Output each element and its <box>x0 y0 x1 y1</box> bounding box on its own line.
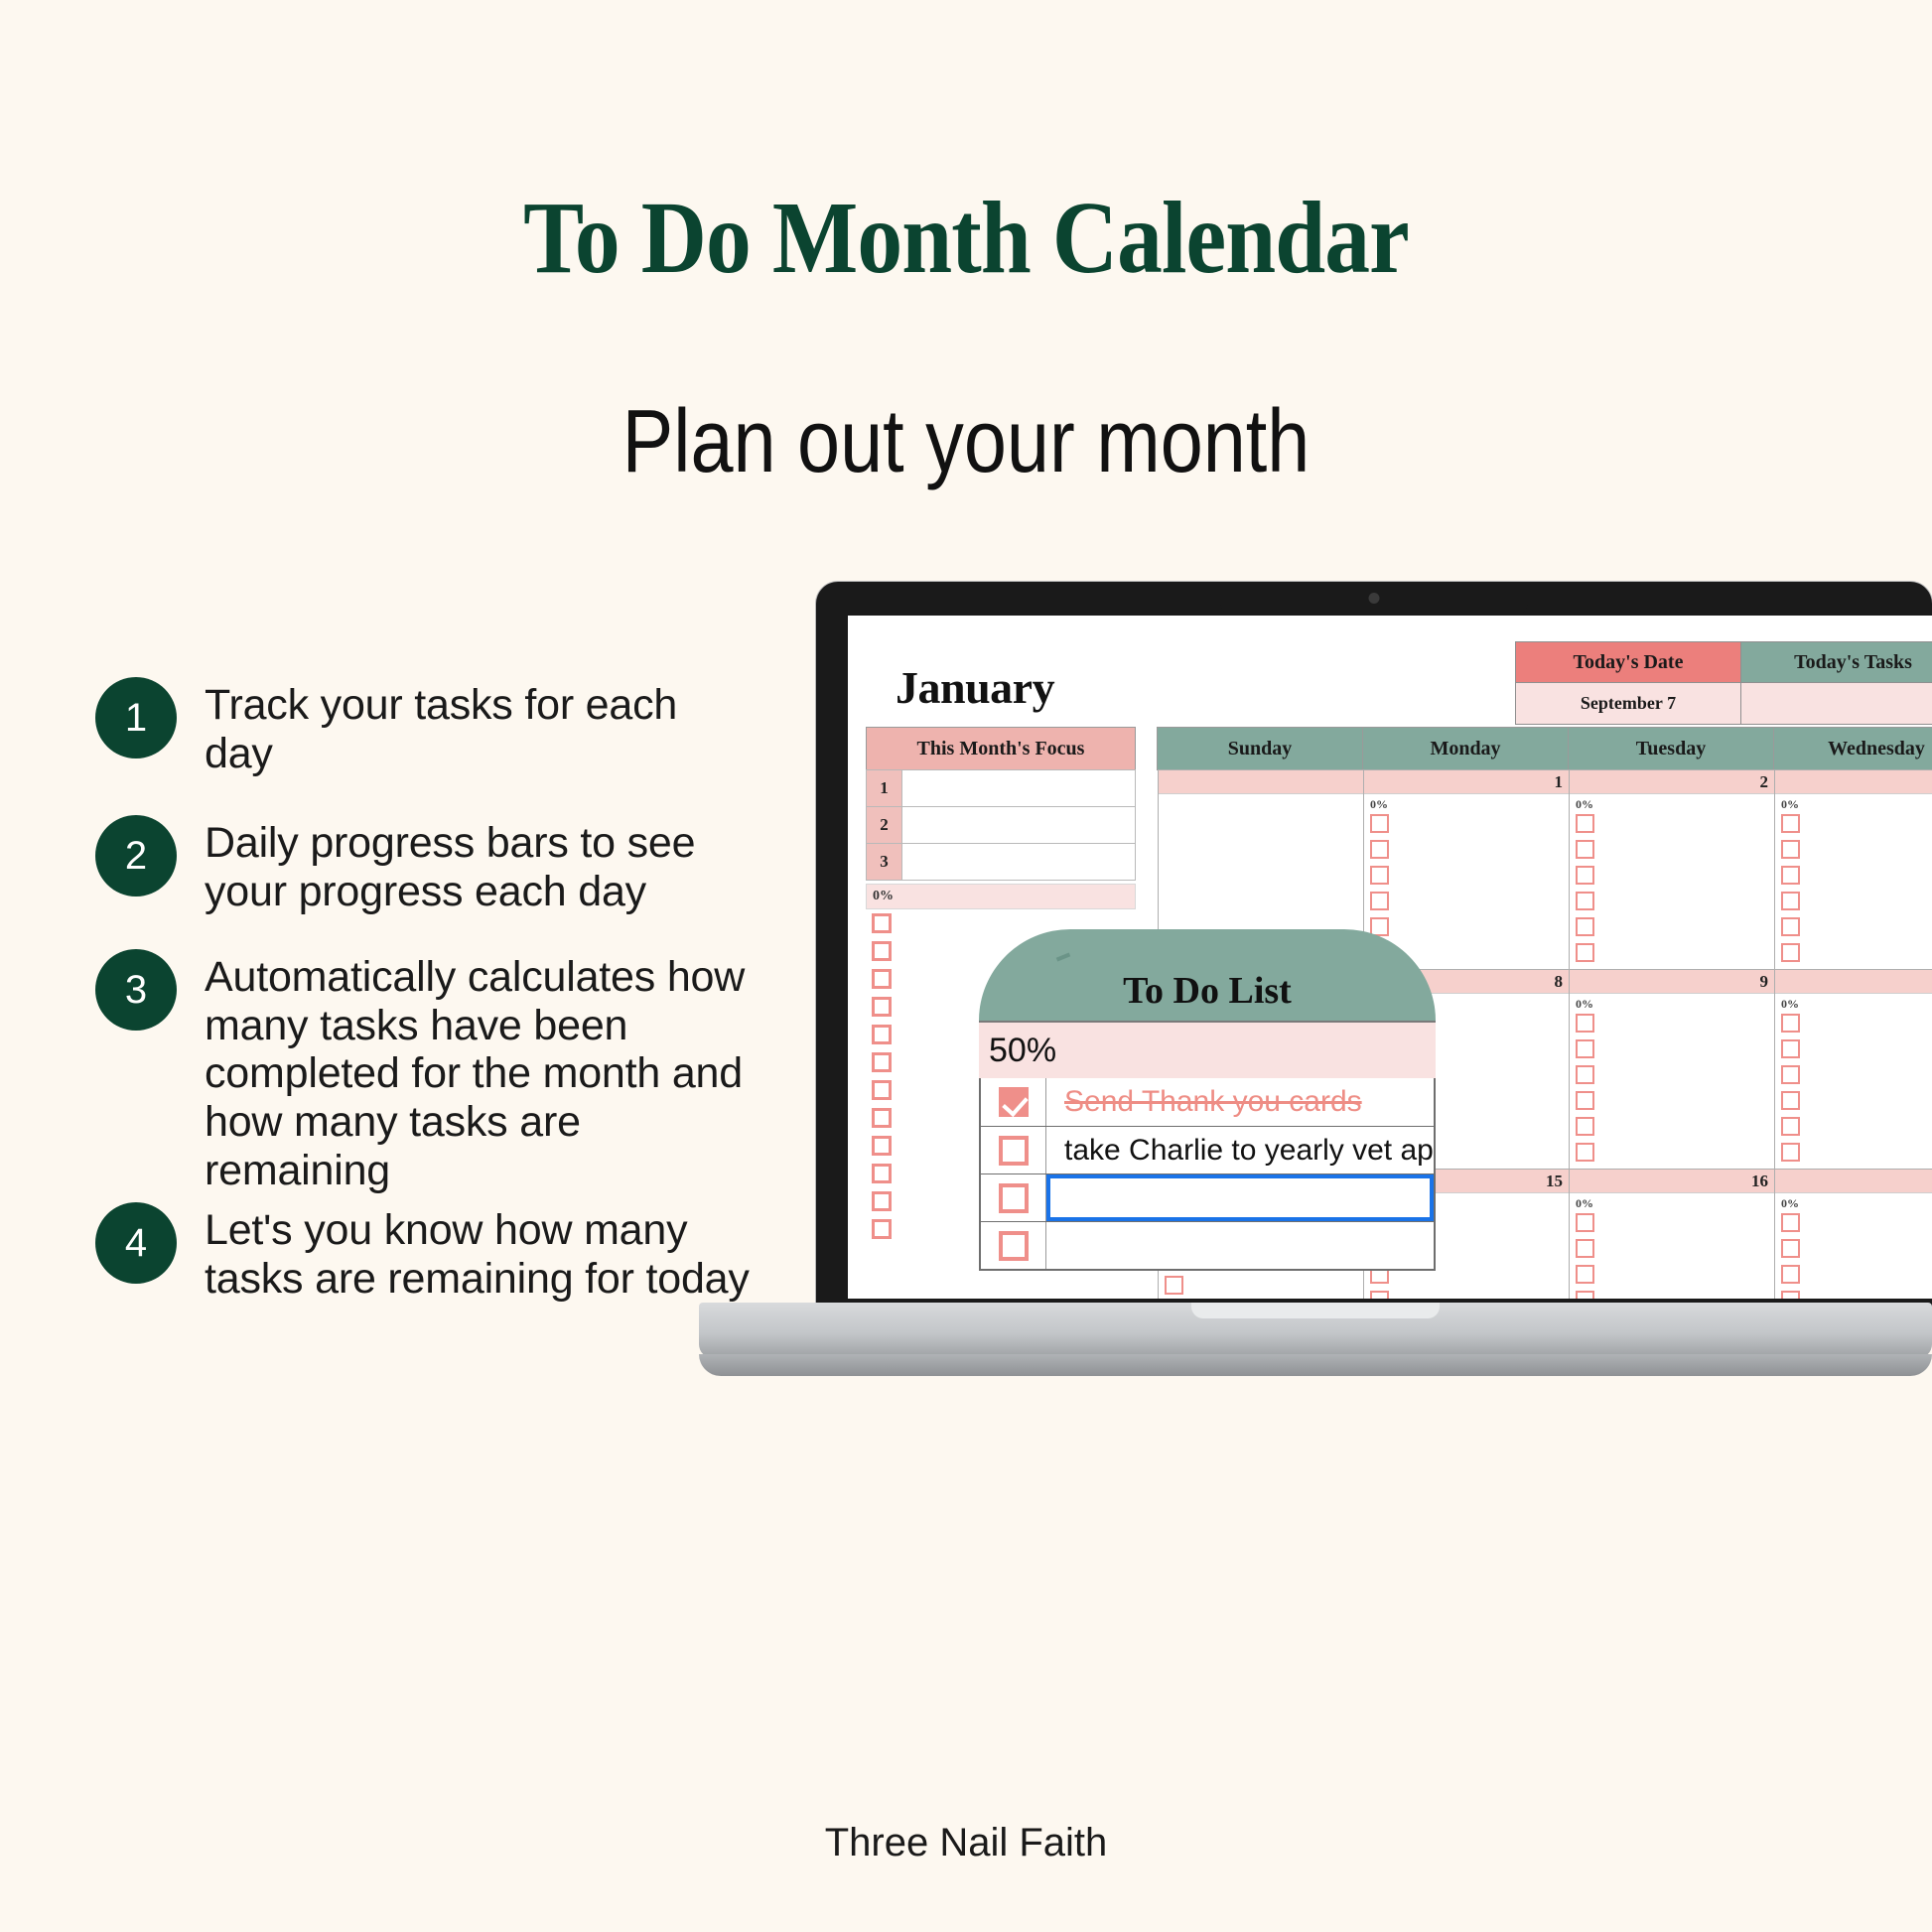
feature-item-4: 4 Let's you know how many tasks are rema… <box>95 1200 751 1303</box>
calendar-date-number: 16 <box>1570 1170 1774 1193</box>
webcam-icon <box>1369 593 1380 604</box>
checkbox-icon[interactable] <box>1576 866 1594 885</box>
todo-checkbox-cell[interactable] <box>981 1127 1046 1173</box>
checkbox-icon[interactable] <box>872 1025 892 1044</box>
feature-badge-3: 3 <box>95 949 177 1031</box>
checkbox-icon[interactable] <box>1370 866 1389 885</box>
feature-text-2: Daily progress bars to see your progress… <box>205 813 751 915</box>
checkbox-icon[interactable] <box>1576 1291 1594 1299</box>
focus-percent-label: 0% <box>866 884 1136 909</box>
day-header-sunday: Sunday <box>1157 727 1363 770</box>
focus-row-number: 1 <box>867 770 902 806</box>
calendar-date-number: 10 <box>1775 970 1932 994</box>
day-header-wednesday: Wednesday <box>1773 727 1932 770</box>
checkbox-icon[interactable] <box>1781 1213 1800 1232</box>
focus-row[interactable]: 1 <box>866 769 1136 807</box>
checkbox-icon[interactable] <box>1370 892 1389 910</box>
checkbox-icon[interactable] <box>1576 1143 1594 1162</box>
focus-row[interactable]: 3 <box>866 843 1136 881</box>
checkbox-icon[interactable] <box>1781 1291 1800 1299</box>
checkbox-icon[interactable] <box>1576 892 1594 910</box>
checkbox-icon[interactable] <box>1781 1014 1800 1033</box>
checkbox-icon[interactable] <box>872 1191 892 1211</box>
checkbox-icon[interactable] <box>1576 1039 1594 1058</box>
checkbox-checked-icon[interactable] <box>999 1087 1029 1117</box>
checkbox-icon[interactable] <box>1781 1117 1800 1136</box>
feature-item-3: 3 Automatically calculates how many task… <box>95 947 751 1194</box>
checkbox-icon[interactable] <box>872 913 892 933</box>
day-checkbox-list <box>1570 1014 1774 1162</box>
calendar-day-cell[interactable]: 100% <box>1774 969 1932 1170</box>
checkbox-icon[interactable] <box>1576 1239 1594 1258</box>
todo-checkbox-cell[interactable] <box>981 1174 1046 1221</box>
todo-item-label[interactable] <box>1046 1174 1434 1221</box>
checkbox-icon[interactable] <box>872 1108 892 1128</box>
laptop-notch <box>1220 582 1528 616</box>
feature-text-1: Track your tasks for each day <box>205 675 751 777</box>
todo-item-rows: Send Thank you cardstake Charlie to year… <box>979 1078 1436 1271</box>
grid-header-row: This Month's Focus Sunday Monday Tuesday… <box>866 727 1932 770</box>
spreadsheet: January Today's Date September 7 Today's… <box>848 616 1932 1299</box>
footer-brand: Three Nail Faith <box>0 1821 1932 1865</box>
feature-badge-1: 1 <box>95 677 177 759</box>
checkbox-icon[interactable] <box>872 1080 892 1100</box>
day-checkbox-list <box>1570 814 1774 962</box>
today-panel: Today's Date September 7 Today's Tasks <box>1515 641 1932 725</box>
todo-item-row[interactable]: Send Thank you cards <box>981 1078 1434 1126</box>
laptop-screen: January Today's Date September 7 Today's… <box>848 616 1932 1299</box>
todo-checkbox-cell[interactable] <box>981 1222 1046 1269</box>
checkbox-icon[interactable] <box>1781 866 1800 885</box>
checkbox-icon[interactable] <box>1781 892 1800 910</box>
todo-progress-bar: 50% <box>979 1021 1436 1078</box>
checkbox-icon[interactable] <box>1576 814 1594 833</box>
checkbox-icon[interactable] <box>1781 840 1800 859</box>
day-percent-label: 0% <box>1570 994 1774 1014</box>
todo-popup-header: To Do List <box>979 929 1436 1021</box>
focus-row-number: 3 <box>867 844 902 880</box>
page-title: To Do Month Calendar <box>116 187 1816 290</box>
checkbox-icon[interactable] <box>1781 1091 1800 1110</box>
calendar-date-number: 2 <box>1570 770 1774 794</box>
todo-checkbox-cell[interactable] <box>981 1078 1046 1126</box>
calendar-date-number: 1 <box>1364 770 1569 794</box>
laptop-base-foot <box>699 1354 1932 1376</box>
checkbox-icon[interactable] <box>1781 814 1800 833</box>
month-title: January <box>896 661 1054 714</box>
feature-item-2: 2 Daily progress bars to see your progre… <box>95 813 751 915</box>
checkbox-icon[interactable] <box>1576 1065 1594 1084</box>
feature-item-1: 1 Track your tasks for each day <box>95 675 751 777</box>
calendar-day-column: 30%100%170%240%310% <box>1774 770 1932 1299</box>
checkbox-icon[interactable] <box>872 941 892 961</box>
todo-progress-label: 50% <box>989 1032 1056 1070</box>
day-percent-label: 0% <box>1570 1193 1774 1213</box>
laptop-lid: January Today's Date September 7 Today's… <box>816 582 1932 1316</box>
checkbox-icon[interactable] <box>1781 1143 1800 1162</box>
todo-popup-title: To Do List <box>1123 969 1292 1013</box>
today-tasks-value[interactable] <box>1741 682 1932 724</box>
focus-column-header: This Month's Focus <box>866 727 1136 770</box>
checkbox-icon[interactable] <box>1370 1291 1389 1299</box>
day-checkbox-list <box>1775 1014 1932 1162</box>
day-percent-label: 0% <box>1570 794 1774 814</box>
day-percent-label: 0% <box>1775 794 1932 814</box>
checkbox-icon[interactable] <box>872 1164 892 1183</box>
checkbox-icon[interactable] <box>872 997 892 1017</box>
cursor-icon <box>1056 953 1070 962</box>
feature-badge-4: 4 <box>95 1202 177 1284</box>
todo-progress-track <box>1070 1034 1428 1067</box>
todo-item-label[interactable]: Send Thank you cards <box>1046 1085 1434 1119</box>
day-header-monday: Monday <box>1362 727 1569 770</box>
checkbox-icon[interactable] <box>999 1136 1029 1166</box>
day-header-tuesday: Tuesday <box>1568 727 1774 770</box>
feature-badge-2: 2 <box>95 815 177 897</box>
focus-rows: 1 2 3 <box>866 770 1136 881</box>
calendar-day-cell[interactable]: 20% <box>1569 769 1775 970</box>
feature-text-3: Automatically calculates how many tasks … <box>205 947 751 1194</box>
today-date-column: Today's Date September 7 <box>1516 642 1740 724</box>
checkbox-icon[interactable] <box>1781 943 1800 962</box>
todo-list-popup: To Do List 50% Send Thank you cardstake … <box>979 929 1436 1271</box>
todo-item-row[interactable] <box>981 1221 1434 1269</box>
checkbox-icon[interactable] <box>1576 840 1594 859</box>
todo-item-row[interactable] <box>981 1173 1434 1221</box>
checkbox-icon[interactable] <box>1781 1065 1800 1084</box>
today-date-value[interactable]: September 7 <box>1516 682 1740 724</box>
checkbox-icon[interactable] <box>1576 1014 1594 1033</box>
checkbox-icon[interactable] <box>999 1231 1029 1261</box>
checkbox-icon[interactable] <box>1576 917 1594 936</box>
day-checkbox-list <box>1775 1213 1932 1299</box>
focus-row-input[interactable] <box>902 844 1135 880</box>
focus-row-number: 2 <box>867 807 902 843</box>
calendar-day-cell[interactable]: 170% <box>1774 1169 1932 1299</box>
calendar-day-cell[interactable] <box>1158 769 1364 955</box>
checkbox-icon[interactable] <box>1781 1239 1800 1258</box>
checkbox-icon[interactable] <box>1370 840 1389 859</box>
laptop-base <box>699 1303 1932 1358</box>
calendar-date-number: 3 <box>1775 770 1932 794</box>
calendar-day-cell[interactable]: 90% <box>1569 969 1775 1170</box>
calendar-day-cell[interactable]: 30% <box>1774 769 1932 970</box>
calendar-date-number: 9 <box>1570 970 1774 994</box>
day-checkbox-list <box>1159 799 1363 947</box>
day-percent-label: 0% <box>1775 994 1932 1014</box>
focus-row-input[interactable] <box>902 770 1135 806</box>
todo-item-row[interactable]: take Charlie to yearly vet appointment <box>981 1126 1434 1173</box>
checkbox-icon[interactable] <box>999 1183 1029 1213</box>
day-checkbox-list <box>1570 1213 1774 1299</box>
checkbox-icon[interactable] <box>872 1219 892 1239</box>
checkbox-icon[interactable] <box>1781 917 1800 936</box>
page-subtitle: Plan out your month <box>135 397 1797 486</box>
trackpad-notch <box>1191 1303 1440 1318</box>
calendar-date-number <box>1159 770 1363 794</box>
focus-row-input[interactable] <box>902 807 1135 843</box>
today-tasks-column: Today's Tasks <box>1740 642 1932 724</box>
feature-text-4: Let's you know how many tasks are remain… <box>205 1200 751 1303</box>
checkbox-icon[interactable] <box>1576 1091 1594 1110</box>
checkbox-icon[interactable] <box>1576 1265 1594 1284</box>
day-checkbox-list <box>1775 814 1932 962</box>
checkbox-icon[interactable] <box>1370 814 1389 833</box>
calendar-day-column: 20%90%160%230%300% <box>1569 770 1775 1299</box>
checkbox-icon[interactable] <box>1781 1265 1800 1284</box>
checkbox-icon[interactable] <box>1165 1276 1183 1295</box>
today-date-header: Today's Date <box>1516 642 1740 682</box>
checkbox-icon[interactable] <box>872 1052 892 1072</box>
todo-item-label[interactable]: take Charlie to yearly vet appointment <box>1046 1134 1434 1168</box>
calendar-date-number: 17 <box>1775 1170 1932 1193</box>
feature-list: 1 Track your tasks for each day 2 Daily … <box>95 675 751 1332</box>
day-percent-label: 0% <box>1364 794 1569 814</box>
checkbox-icon[interactable] <box>1576 943 1594 962</box>
checkbox-icon[interactable] <box>1576 1213 1594 1232</box>
checkbox-icon[interactable] <box>872 969 892 989</box>
today-tasks-header: Today's Tasks <box>1741 642 1932 682</box>
checkbox-icon[interactable] <box>1576 1117 1594 1136</box>
checkbox-icon[interactable] <box>872 1136 892 1156</box>
focus-row[interactable]: 2 <box>866 806 1136 844</box>
day-percent-label: 0% <box>1775 1193 1932 1213</box>
calendar-day-cell[interactable]: 160% <box>1569 1169 1775 1299</box>
laptop-mockup: January Today's Date September 7 Today's… <box>816 582 1932 1455</box>
checkbox-icon[interactable] <box>1781 1039 1800 1058</box>
